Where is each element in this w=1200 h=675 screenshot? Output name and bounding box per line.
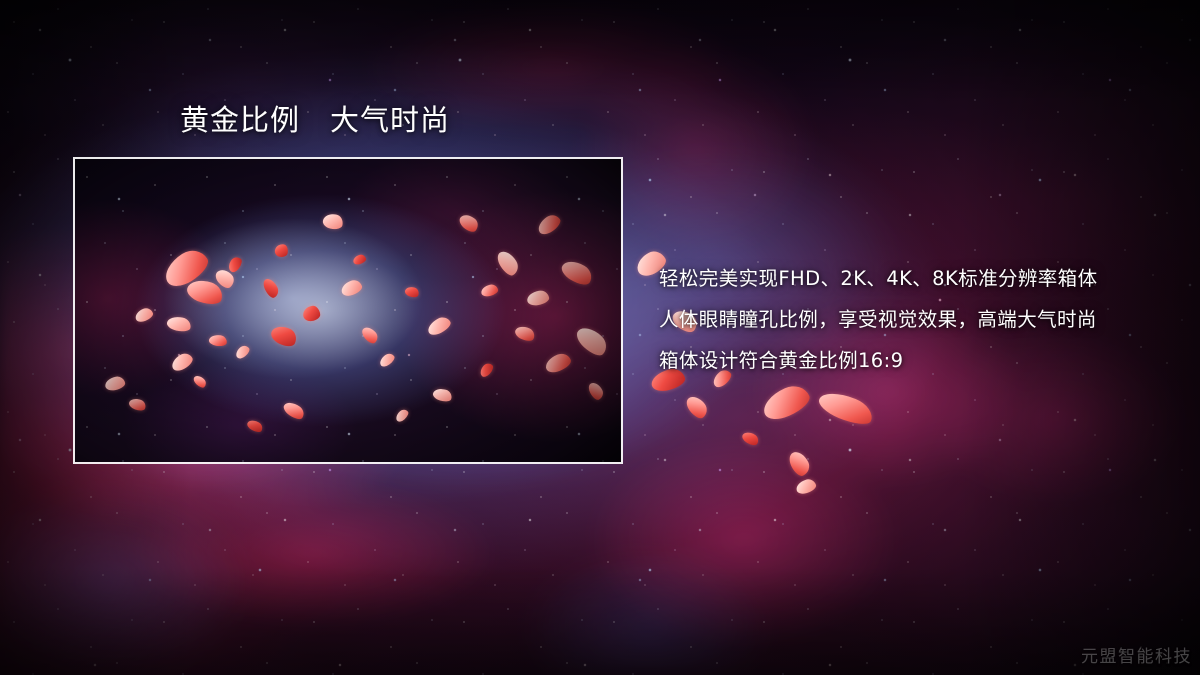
petal-bg-9 [740, 429, 760, 447]
framed-galaxy-image [73, 157, 623, 464]
body-line-3: 箱体设计符合黄金比例16:9 [659, 340, 1159, 381]
petal-bg-7 [786, 449, 812, 479]
watermark: 元盟智能科技 [1081, 642, 1192, 667]
page-title: 黄金比例 大气时尚 [180, 103, 450, 137]
frame-vignette [75, 159, 621, 462]
petal-bg-5 [759, 380, 814, 424]
petal-bg-8 [794, 477, 817, 496]
petal-bg-3 [683, 393, 710, 422]
slide-canvas: 黄金比例 大气时尚 轻松完美实现FHD、2K、4K、8K标准分辨率箱体 人体眼睛… [0, 0, 1200, 675]
body-text-block: 轻松完美实现FHD、2K、4K、8K标准分辨率箱体 人体眼睛瞳孔比例，享受视觉效… [659, 258, 1159, 381]
body-line-1: 轻松完美实现FHD、2K、4K、8K标准分辨率箱体 [659, 258, 1159, 299]
petal-bg-6 [816, 386, 877, 429]
body-line-2: 人体眼睛瞳孔比例，享受视觉效果，高端大气时尚 [659, 299, 1159, 340]
